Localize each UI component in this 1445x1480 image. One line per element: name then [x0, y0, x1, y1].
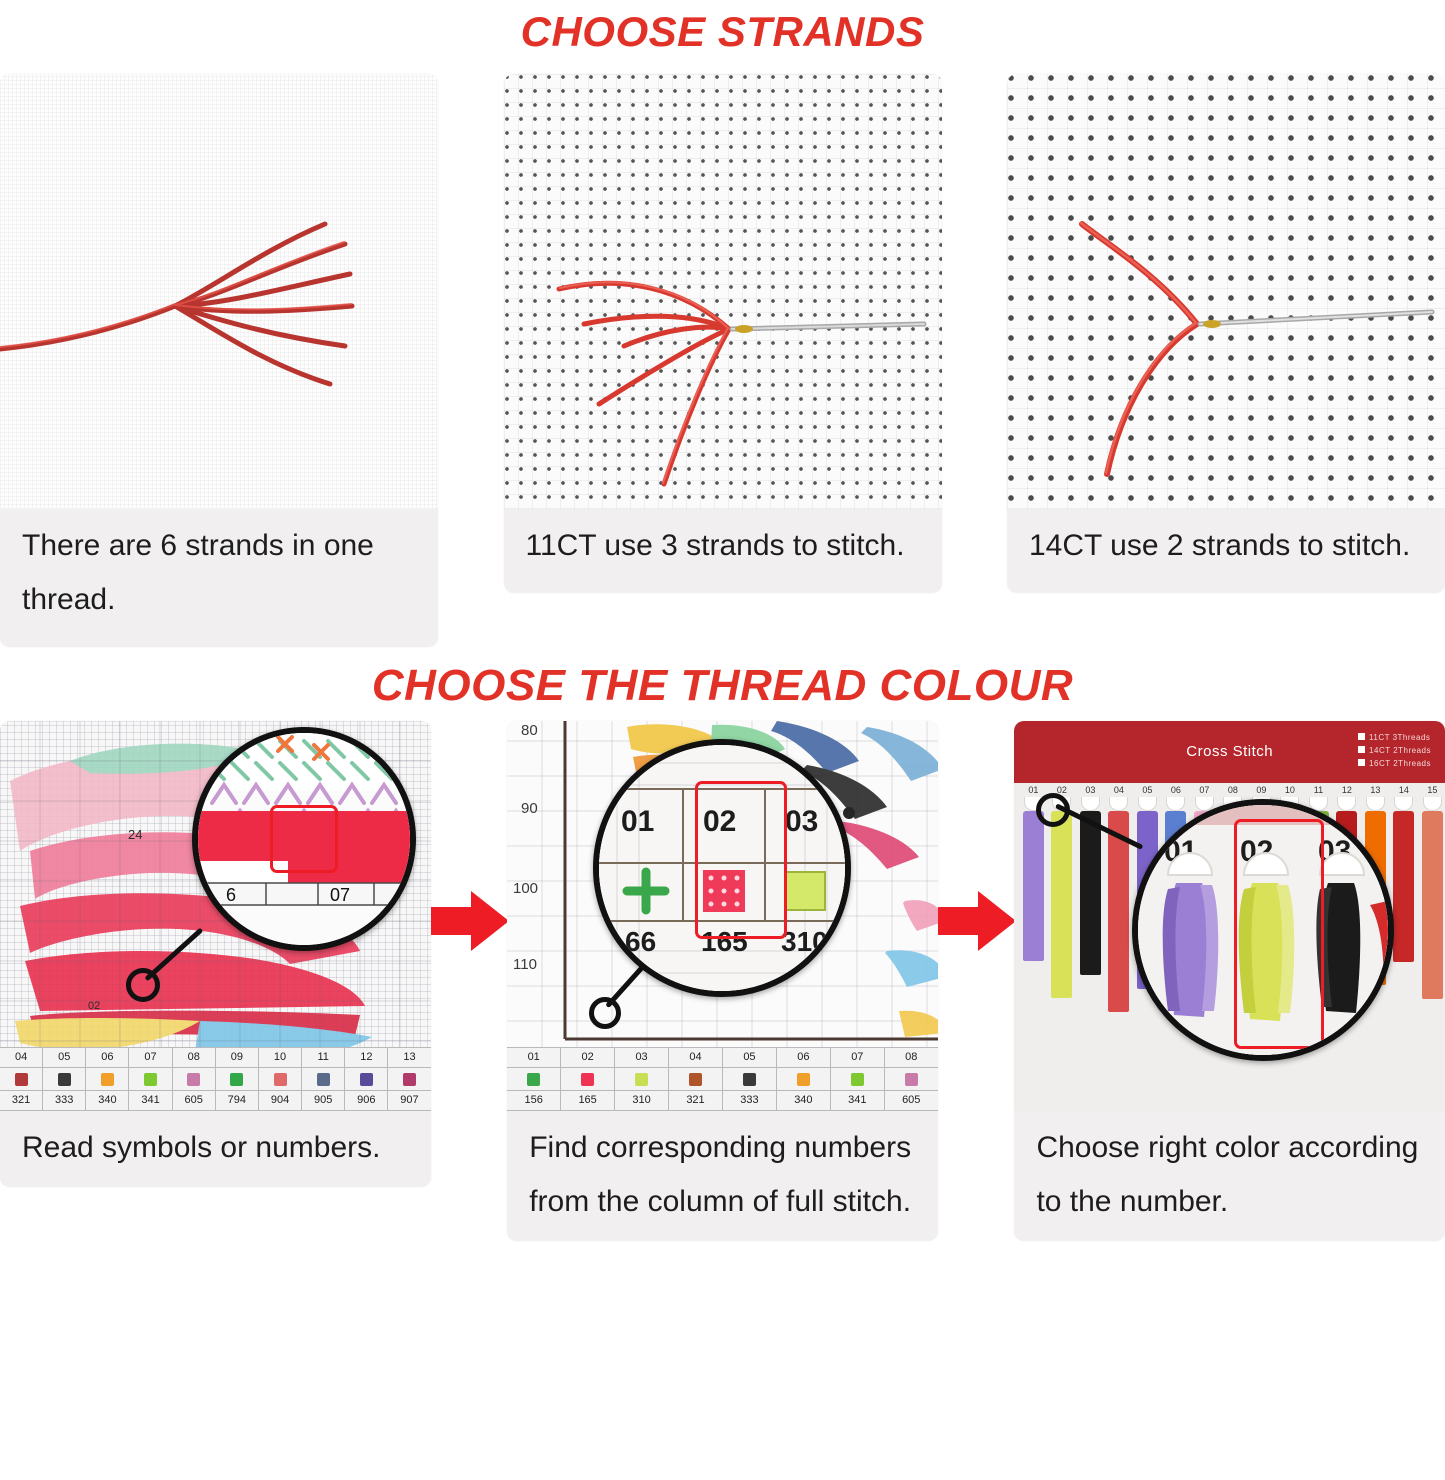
legend-symbol-cell-left — [43, 1068, 86, 1091]
page-title-choose-thread-colour: CHOOSE THE THREAD COLOUR — [0, 647, 1445, 715]
legend-number-row-2: 156165310321333340341605 — [507, 1091, 938, 1111]
legend-symbol-cell-left — [86, 1068, 129, 1091]
legend-table-middle: 0102030405060708 15616531032133334034160… — [507, 1047, 938, 1111]
legend-header-cell-middle: 03 — [615, 1048, 669, 1068]
legend-header-row-2: 0102030405060708 — [507, 1048, 938, 1068]
svg-text:6: 6 — [226, 885, 236, 905]
thread-column: 04 — [1106, 783, 1132, 1012]
legend-number-cell-middle: 340 — [777, 1091, 831, 1111]
legend-number-cell-left: 340 — [86, 1091, 129, 1111]
legend-symbol-cell-left — [259, 1068, 302, 1091]
legend-header-cell-middle: 04 — [669, 1048, 723, 1068]
magnifier-highlight-box-2 — [695, 781, 787, 939]
thread-skein — [1051, 811, 1072, 998]
brand-title: Cross Stitch — [1186, 743, 1273, 760]
legend-number-cell-middle: 341 — [831, 1091, 885, 1111]
thread-column-number: 15 — [1419, 783, 1445, 797]
legend-symbol-cell-middle — [615, 1068, 669, 1091]
legend-header-cell-left: 06 — [86, 1048, 129, 1068]
legend-number-cell-middle: 156 — [507, 1091, 561, 1111]
photo-thread-card: Cross Stitch 11CT 3Threads14CT 2Threads1… — [1014, 721, 1445, 1111]
legend-number-cell-middle: 310 — [615, 1091, 669, 1111]
legend-symbol-cell-left — [302, 1068, 345, 1091]
legend-symbol-cell-left — [129, 1068, 172, 1091]
legend-header-cell-left: 09 — [216, 1048, 259, 1068]
svg-text:100: 100 — [513, 880, 538, 897]
legend-header-cell-left: 07 — [129, 1048, 172, 1068]
legend-symbol-cell-left — [216, 1068, 259, 1091]
thread-column-number: 12 — [1334, 783, 1360, 797]
thread-column: 03 — [1077, 783, 1103, 975]
thread-column-number: 07 — [1191, 783, 1217, 797]
legend-number-cell-middle: 605 — [885, 1091, 938, 1111]
legend-header-cell-middle: 01 — [507, 1048, 561, 1068]
legend-header-row: 04050607080910111213 — [0, 1048, 431, 1068]
thread-hanger-notch — [1109, 797, 1128, 811]
legend-number-cell-middle: 165 — [561, 1091, 615, 1111]
magnifier-lens-numbers: 010203 6616531 — [593, 739, 851, 997]
legend-header-cell-left: 10 — [259, 1048, 302, 1068]
legend-header-cell-left: 08 — [173, 1048, 216, 1068]
svg-text:01: 01 — [621, 805, 654, 838]
legend-number-cell-left: 321 — [0, 1091, 43, 1111]
legend-number-cell-left: 906 — [345, 1091, 388, 1111]
legend-table-left: 04050607080910111213 3213333403416057949… — [0, 1047, 431, 1111]
card-read-symbols: 24 02 — [0, 721, 431, 1187]
legend-number-cell-left: 904 — [259, 1091, 302, 1111]
legend-number-cell-left: 605 — [173, 1091, 216, 1111]
legend-symbol-cell-middle — [723, 1068, 777, 1091]
legend-symbol-cell-middle — [885, 1068, 938, 1091]
legend-number-row: 321333340341605794904905906907 — [0, 1091, 431, 1111]
legend-number-cell-middle: 321 — [669, 1091, 723, 1111]
card-six-strands: There are 6 strands in one thread. — [0, 74, 438, 647]
thread-column-number: 14 — [1391, 783, 1417, 797]
svg-text:80: 80 — [521, 722, 538, 739]
legend-symbol-cell-middle — [669, 1068, 723, 1091]
legend-header-cell-middle: 07 — [831, 1048, 885, 1068]
thread-illustration — [0, 74, 438, 509]
thread-column-number: 05 — [1134, 783, 1160, 797]
svg-text:03: 03 — [785, 805, 818, 838]
thread-skein — [1393, 811, 1414, 962]
thread-column-number: 13 — [1362, 783, 1388, 797]
photo-11ct — [504, 74, 942, 509]
thread-colour-card-row: 24 02 — [0, 715, 1445, 1241]
thread-column-number: 04 — [1106, 783, 1132, 797]
skein-01 — [1163, 883, 1219, 1017]
chart-marker-02: 02 — [88, 1000, 100, 1012]
thread-skein — [1080, 811, 1101, 975]
thread-needle-illustration-11ct — [504, 74, 942, 509]
magnifier-anchor-dot-2 — [589, 997, 621, 1029]
legend-header-cell-middle: 08 — [885, 1048, 938, 1068]
photo-six-strands — [0, 74, 438, 509]
thread-hanger-notch — [1081, 797, 1100, 811]
svg-text:90: 90 — [521, 800, 538, 817]
caption-read-symbols: Read symbols or numbers. — [0, 1111, 431, 1187]
thread-column-number: 09 — [1248, 783, 1274, 797]
legend-header-cell-left: 12 — [345, 1048, 388, 1068]
legend-header-cell-middle: 02 — [561, 1048, 615, 1068]
photo-pattern-chart: 24 02 — [0, 721, 431, 1111]
legend-number-cell-left: 905 — [302, 1091, 345, 1111]
thread-count-check-item: 16CT 2Threads — [1358, 757, 1431, 770]
thread-column: 14 — [1391, 783, 1417, 962]
thread-column-number: 06 — [1163, 783, 1189, 797]
legend-header-cell-middle: 05 — [723, 1048, 777, 1068]
legend-header-cell-left: 04 — [0, 1048, 43, 1068]
chart-marker-24: 24 — [128, 827, 142, 842]
card-11ct: 11CT use 3 strands to stitch. — [504, 74, 942, 593]
card-14ct: 14CT use 2 strands to stitch. — [1007, 74, 1445, 593]
legend-symbol-cell-middle — [507, 1068, 561, 1091]
card-find-numbers: 80 90 100 110 — [507, 721, 938, 1241]
thread-column-number: 10 — [1277, 783, 1303, 797]
legend-symbol-cell-left — [345, 1068, 388, 1091]
thread-column-number: 11 — [1305, 783, 1331, 797]
legend-symbol-row-2 — [507, 1068, 938, 1091]
legend-number-cell-left: 341 — [129, 1091, 172, 1111]
legend-symbol-cell-middle — [777, 1068, 831, 1091]
symbol-green-square — [785, 872, 825, 910]
legend-header-cell-middle: 06 — [777, 1048, 831, 1068]
thread-column-number: 03 — [1077, 783, 1103, 797]
thread-count-check-item: 11CT 3Threads — [1358, 731, 1431, 744]
legend-symbol-cell-middle — [831, 1068, 885, 1091]
svg-text:110: 110 — [513, 956, 537, 973]
legend-symbol-cell-left — [388, 1068, 430, 1091]
legend-header-cell-left: 11 — [302, 1048, 345, 1068]
legend-number-cell-left: 794 — [216, 1091, 259, 1111]
page-title-choose-strands: CHOOSE STRANDS — [0, 0, 1445, 60]
thread-column-number: 08 — [1220, 783, 1246, 797]
legend-number-cell-middle: 333 — [723, 1091, 777, 1111]
caption-14ct: 14CT use 2 strands to stitch. — [1007, 509, 1445, 593]
photo-14ct — [1007, 74, 1445, 509]
strands-card-row: There are 6 strands in one thread. — [0, 60, 1445, 647]
legend-number-cell-left: 333 — [43, 1091, 86, 1111]
cross-stitch-brand-band: Cross Stitch 11CT 3Threads14CT 2Threads1… — [1014, 721, 1445, 783]
caption-six-strands: There are 6 strands in one thread. — [0, 509, 438, 647]
thread-skein — [1023, 811, 1044, 961]
legend-symbol-cell-middle — [561, 1068, 615, 1091]
magnifier-highlight-box-3 — [1234, 819, 1324, 1049]
thread-skein — [1422, 811, 1443, 999]
thread-hanger-notch — [1394, 797, 1413, 811]
magnifier-highlight-box — [270, 805, 338, 873]
card-choose-color: Cross Stitch 11CT 3Threads14CT 2Threads1… — [1014, 721, 1445, 1241]
svg-text:66: 66 — [625, 926, 656, 957]
thread-count-checklist: 11CT 3Threads14CT 2Threads16CT 2Threads — [1358, 731, 1431, 770]
magnifier-lens-symbols: 6 07 — [192, 727, 416, 951]
thread-needle-illustration-14ct — [1007, 74, 1445, 509]
legend-symbol-cell-left — [0, 1068, 43, 1091]
thread-count-check-item: 14CT 2Threads — [1358, 744, 1431, 757]
legend-symbol-cell-left — [173, 1068, 216, 1091]
right-arrow-icon-2 — [938, 891, 1015, 951]
magnifier-lens-threads: 010203 — [1132, 799, 1394, 1061]
thread-hanger-notch — [1423, 797, 1442, 811]
thread-column: 15 — [1419, 783, 1445, 999]
caption-find-numbers: Find corresponding numbers from the colu… — [507, 1111, 938, 1241]
photo-pattern-legend: 80 90 100 110 — [507, 721, 938, 1111]
legend-header-cell-left: 05 — [43, 1048, 86, 1068]
legend-number-cell-left: 907 — [388, 1091, 430, 1111]
svg-text:07: 07 — [330, 885, 350, 905]
svg-text:310: 310 — [781, 926, 828, 957]
right-arrow-icon-1 — [431, 891, 508, 951]
caption-choose-color: Choose right color according to the numb… — [1014, 1111, 1445, 1241]
caption-11ct: 11CT use 3 strands to stitch. — [504, 509, 942, 593]
legend-symbol-row — [0, 1068, 431, 1091]
legend-header-cell-left: 13 — [388, 1048, 430, 1068]
